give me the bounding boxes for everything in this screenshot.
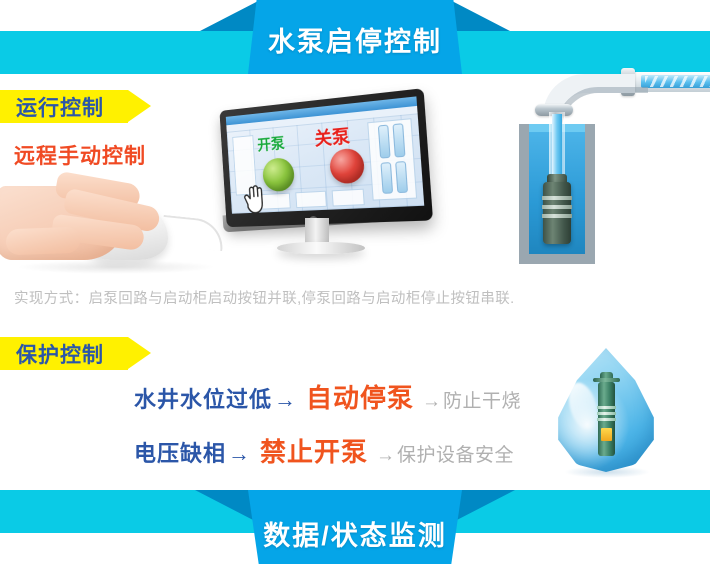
protection-rule-row: 电压缺相 → 禁止开泵 → 保护设备安全 (134, 432, 514, 469)
discharge-pipe-flow-stripes (645, 76, 710, 87)
rule-arrow-icon: → (272, 387, 298, 413)
rule-effect: 保护设备安全 (397, 440, 514, 467)
drop-pump-band (597, 418, 616, 421)
infographic-page: 水泵启停控制 运行控制 远程手动控制 (0, 0, 710, 564)
rule-condition: 水井水位过低 (134, 382, 272, 414)
tag-protection-control-arrow-icon (128, 337, 151, 369)
screen-panel (295, 191, 327, 208)
hand-mouse-illustration (0, 168, 204, 280)
tag-run-control-label: 运行控制 (0, 92, 104, 122)
run-control-subtitle: 远程手动控制 (14, 140, 146, 170)
rule-action: 禁止开泵 (252, 432, 376, 469)
rule-action: 自动停泵 (298, 378, 422, 415)
top-banner-title: 水泵启停控制 (0, 20, 710, 59)
screen-gauge (380, 162, 393, 194)
rule-arrow-secondary-icon: → (422, 391, 443, 413)
screen-gauge (395, 161, 408, 193)
rule-effect: 防止干烧 (443, 386, 521, 413)
drop-pump-label-tag (601, 428, 612, 441)
bottom-banner: 数据/状态监测 (0, 490, 710, 564)
hand-mouse-shadow (16, 260, 216, 274)
bottom-banner-title: 数据/状态监测 (0, 514, 710, 553)
tag-run-control-arrow-icon (128, 90, 151, 122)
submersible-pump (543, 182, 571, 244)
rule-arrow-icon: → (226, 441, 252, 467)
water-drop-illustration (548, 348, 666, 478)
screen-gauge (392, 123, 405, 157)
monitor-bezel: 开泵 关泵 (219, 88, 433, 227)
screen-panel (332, 189, 365, 207)
tag-protection-control-label: 保护控制 (0, 339, 104, 369)
screen-stop-pump-label: 关泵 (314, 122, 351, 151)
hand-thumb (6, 227, 81, 256)
implementation-caption: 实现方式：启泵回路与启动柜启动按钮并联,停泵回路与启动柜停止按钮串联. (14, 287, 515, 308)
well-pump-illustration (495, 62, 710, 277)
protection-rule-row: 水井水位过低 → 自动停泵 → 防止干烧 (134, 378, 521, 415)
hand-cursor-icon (241, 184, 270, 214)
monitor-screen: 开泵 关泵 (226, 96, 424, 213)
rule-arrow-secondary-icon: → (376, 445, 397, 467)
drop-pump-band (597, 406, 616, 409)
pump-band (542, 205, 572, 209)
tag-protection-control: 保护控制 (0, 337, 128, 370)
monitor-stand-base (277, 242, 365, 254)
rule-condition: 电压缺相 (134, 436, 226, 468)
drop-pump-band (597, 412, 616, 415)
tag-run-control: 运行控制 (0, 90, 128, 123)
monitor-illustration: 开泵 关泵 (205, 100, 435, 265)
screen-start-pump-label: 开泵 (257, 132, 286, 155)
pump-band (542, 196, 572, 200)
pump-band (542, 214, 572, 218)
